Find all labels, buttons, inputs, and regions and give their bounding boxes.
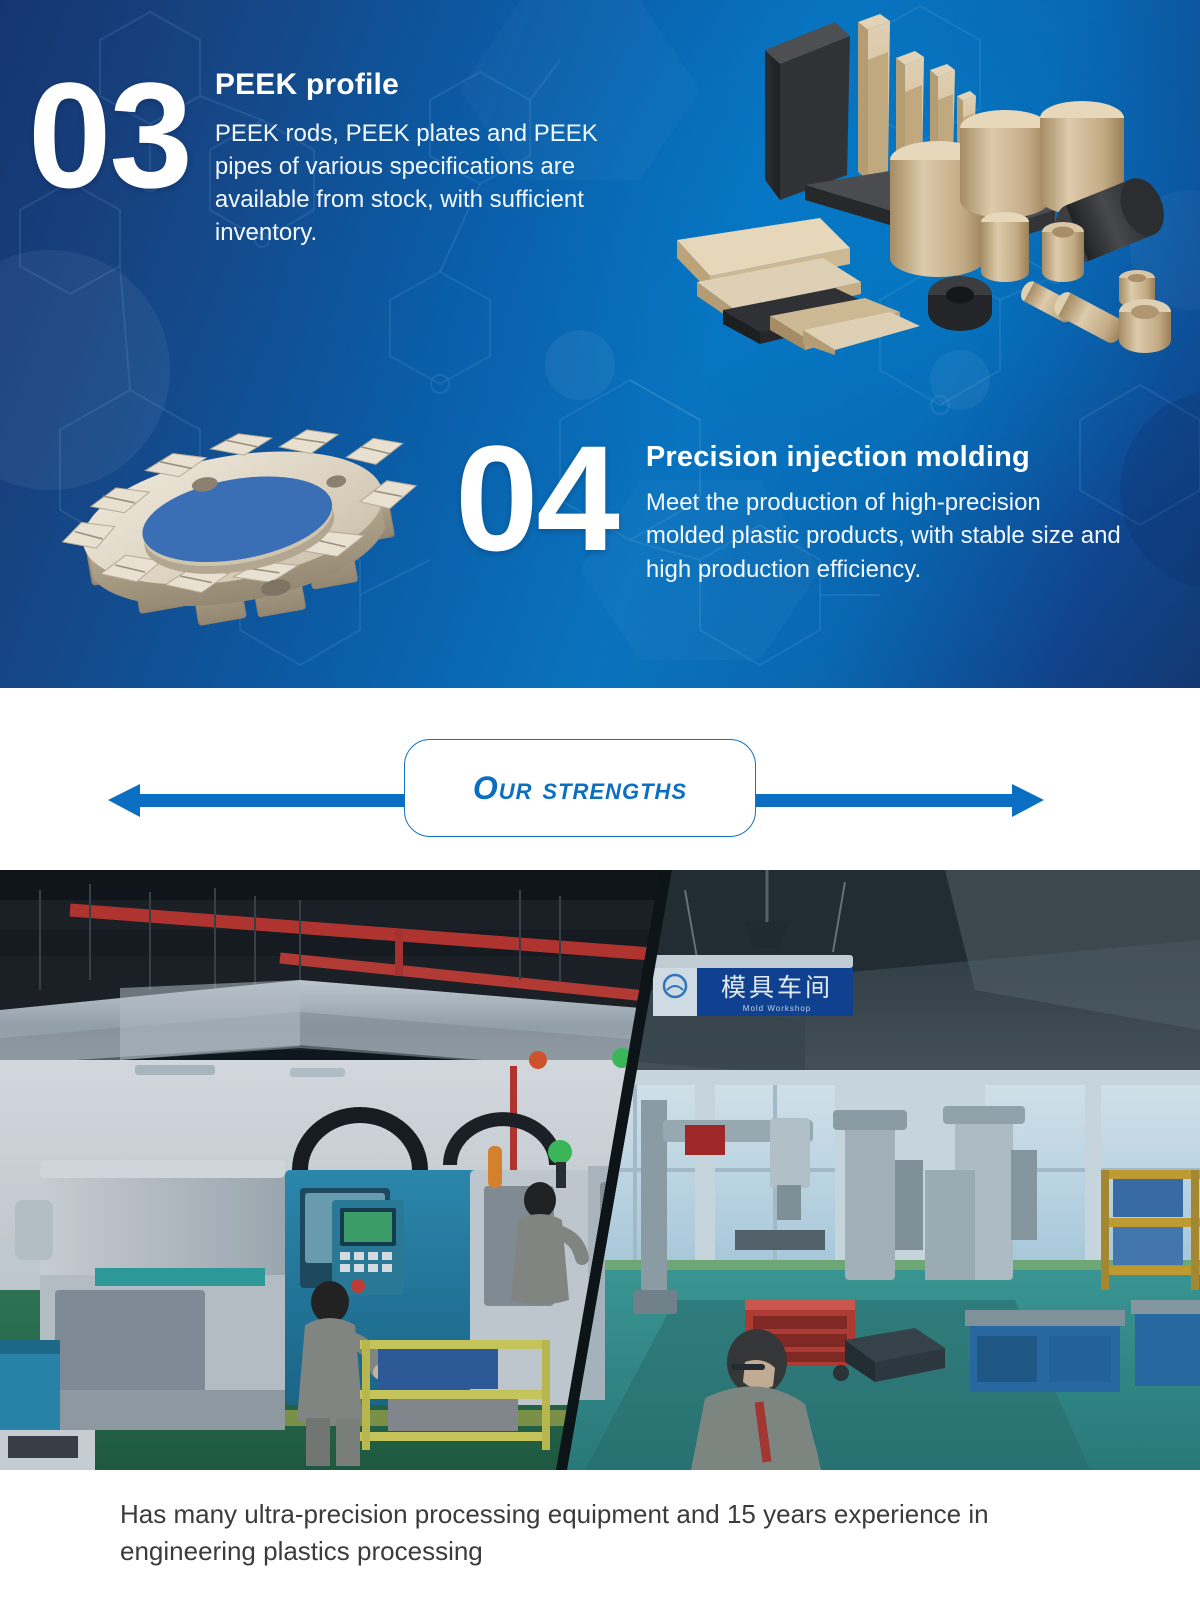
feature-number-04: 04 (455, 429, 618, 567)
decor-bubble-2 (545, 330, 615, 400)
feature-body-04: Meet the production of high-precision mo… (646, 486, 1126, 585)
feature-title-03: PEEK profile (215, 68, 635, 103)
workshop-photos-row: 模具车间 Mold Workshop (0, 870, 1200, 1470)
feature-block-03: 03 PEEK profile PEEK rods, PEEK plates a… (28, 60, 668, 249)
decor-bubble-3 (930, 350, 990, 410)
features-blue-panel: 03 PEEK profile PEEK rods, PEEK plates a… (0, 0, 1200, 688)
peek-gear-ring-image (28, 378, 438, 673)
peek-products-image (675, 0, 1200, 355)
bottom-caption: Has many ultra-precision processing equi… (0, 1478, 1200, 1612)
strengths-label-pill: Our strengths (404, 739, 756, 837)
feature-number-03: 03 (28, 66, 191, 204)
feature-block-04: 04 Precision injection molding Meet the … (455, 425, 1155, 586)
caption-text: Has many ultra-precision processing equi… (120, 1496, 1080, 1570)
strengths-label-text: Our strengths (473, 770, 687, 807)
feature-body-03: PEEK rods, PEEK plates and PEEK pipes of… (215, 117, 635, 249)
cnc-workshop-photo (0, 870, 665, 1470)
feature-title-04: Precision injection molding (646, 441, 1126, 474)
